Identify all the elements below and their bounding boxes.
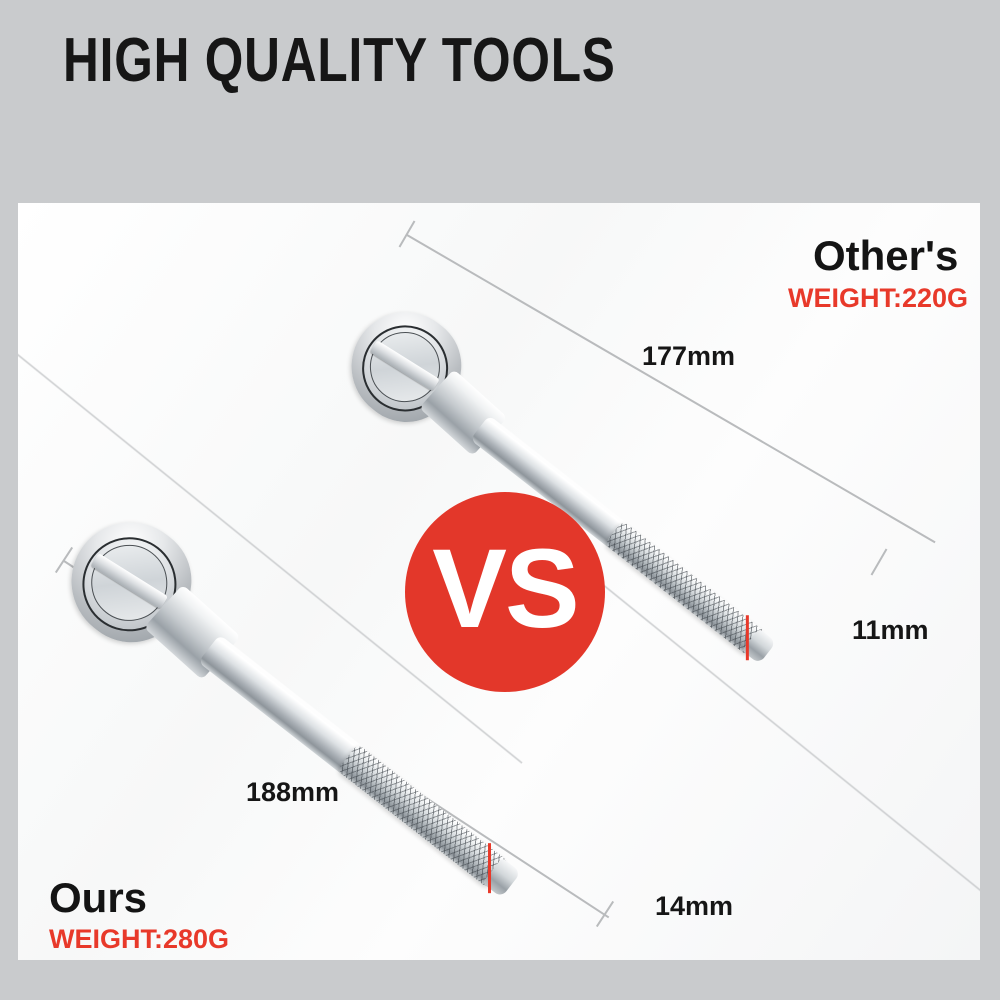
competitor-length-label: 177mm (642, 341, 735, 372)
competitor-diameter-label: 11mm (852, 615, 929, 646)
vs-badge: VS (405, 492, 605, 692)
ours-diameter-marker (488, 843, 491, 893)
ours-length-label: 188mm (246, 777, 339, 808)
competitor-weight-label: WEIGHT:220G (788, 283, 968, 314)
ours-weight-label: WEIGHT:280G (49, 924, 229, 955)
ours-name-label: Ours (49, 874, 147, 922)
competitor-name-label: Other's (813, 232, 958, 280)
competitor-diameter-marker (746, 615, 749, 660)
page-title: HIGH QUALITY TOOLS (63, 26, 616, 96)
vs-badge-label: VS (432, 533, 577, 645)
ours-diameter-label: 14mm (655, 891, 733, 922)
